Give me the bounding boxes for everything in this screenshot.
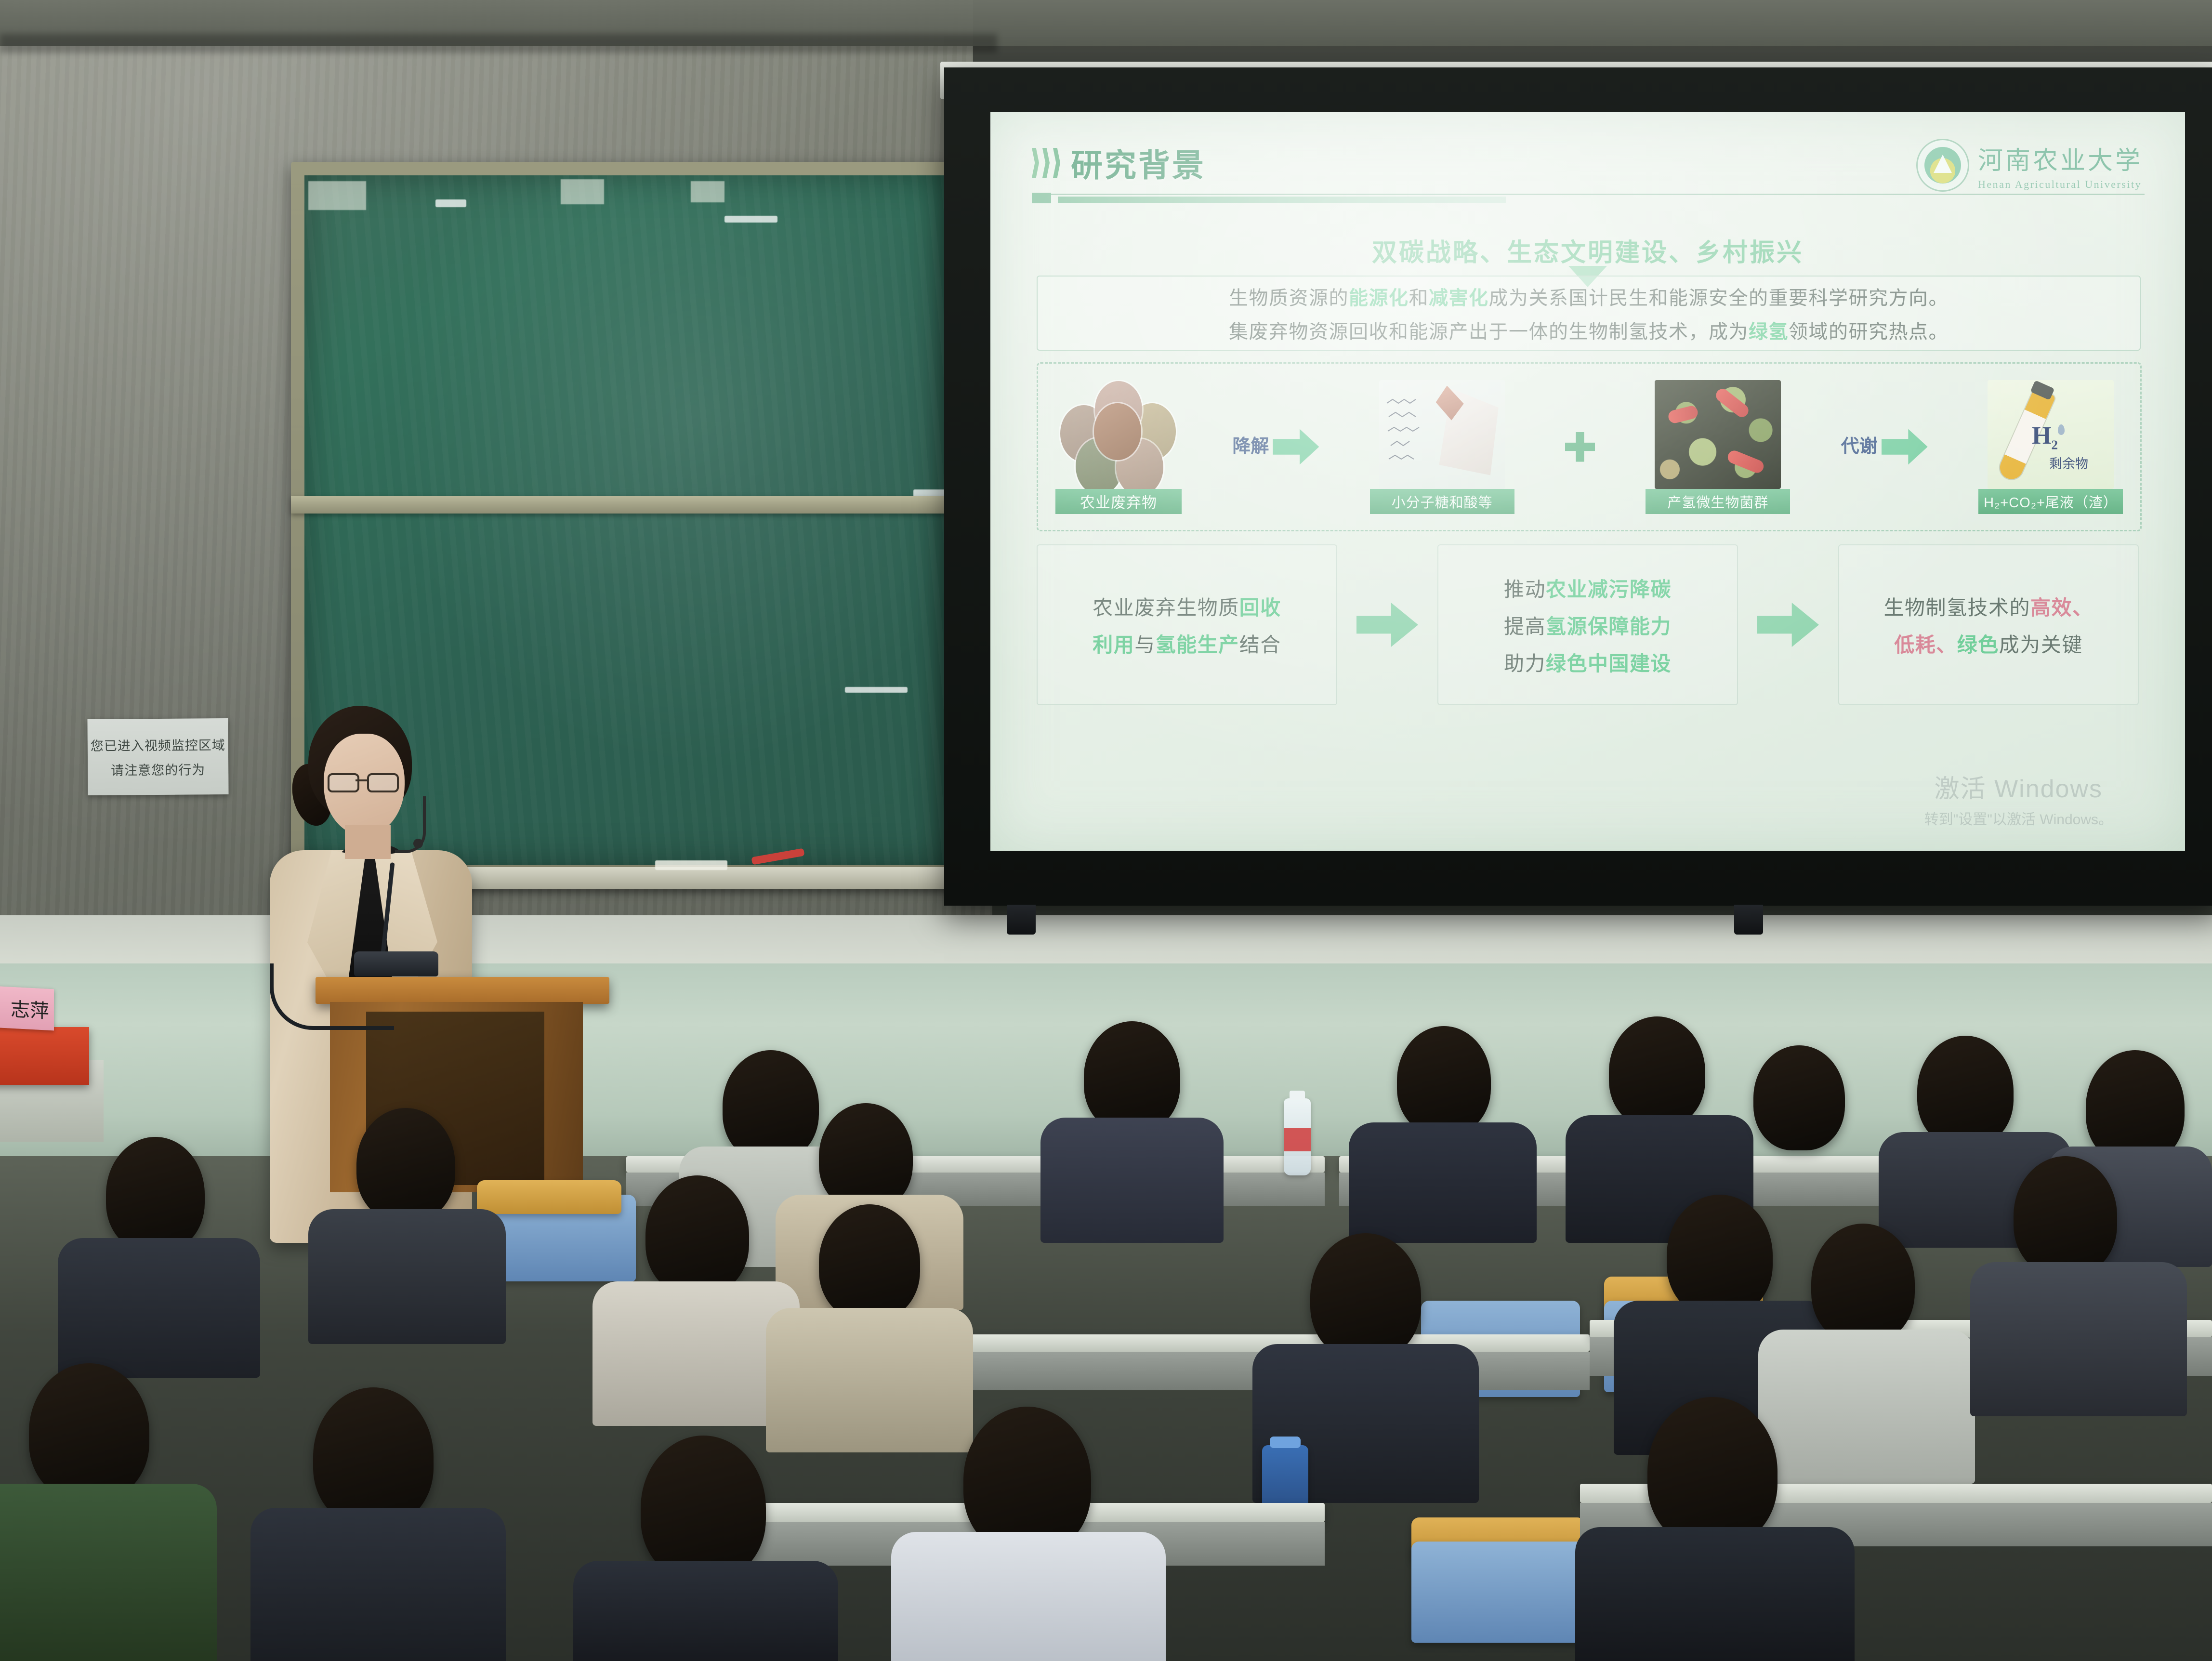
audience-head bbox=[1753, 1045, 1845, 1150]
c3-l1-a: 生物制氢技术的 bbox=[1883, 596, 2030, 619]
residue-label: 剩余物 bbox=[2049, 453, 2088, 472]
watermark-line-2: 转到"设置"以激活 Windows。 bbox=[1924, 807, 2113, 829]
travel-mug bbox=[1262, 1445, 1308, 1513]
molecule-structure-icon bbox=[1384, 396, 1442, 469]
node-caption-feedstock: 农业废弃物 bbox=[1055, 489, 1182, 514]
surveillance-notice-sign: 您已进入视频监控区域 请注意您的行为 bbox=[87, 718, 228, 795]
c2-l1-hl: 农业减污降碳 bbox=[1546, 578, 1672, 601]
conclusion-2-line-2: 提高氢源保障能力 bbox=[1504, 610, 1672, 640]
microbial-consortium-photo bbox=[1655, 380, 1781, 489]
audience-body bbox=[308, 1209, 506, 1344]
presenter-neck bbox=[345, 825, 391, 859]
audience-head bbox=[29, 1363, 149, 1501]
node-caption-monomers: 小分子糖和酸等 bbox=[1370, 489, 1514, 514]
plus-icon bbox=[1565, 432, 1595, 462]
headset-mic-capsule bbox=[413, 839, 423, 848]
node-caption-microbes: 产氢微生物菌群 bbox=[1646, 489, 1790, 514]
audience-body bbox=[1970, 1262, 2187, 1416]
university-logo: 河南农业大学 Henan Agricultural University bbox=[1916, 139, 2143, 192]
arrow-right-icon bbox=[1882, 429, 1928, 465]
c3-l2-hl1: 低耗、 bbox=[1894, 633, 1957, 656]
conclusion-1-line-2: 利用与氢能生产结合 bbox=[1093, 629, 1281, 658]
slide-header: 研究背景 bbox=[1032, 140, 1206, 186]
desk-row-front bbox=[891, 1352, 1590, 1390]
university-name-en: Henan Agricultural University bbox=[1978, 178, 2143, 191]
process-node-feedstock: 农业废弃物 bbox=[1055, 380, 1182, 514]
audience-head bbox=[106, 1137, 205, 1252]
c1-l1-a: 农业废弃生物质 bbox=[1093, 596, 1239, 619]
audience-body bbox=[0, 1484, 217, 1661]
audience-body bbox=[58, 1238, 260, 1378]
university-name-cn: 河南农业大学 bbox=[1978, 140, 2143, 176]
slide-title: 研究背景 bbox=[1071, 140, 1206, 186]
arrow-right-icon bbox=[1273, 429, 1319, 465]
arrow-right-icon bbox=[1757, 603, 1819, 647]
eyeglasses-icon bbox=[328, 773, 400, 790]
chevron-right-icon bbox=[1032, 148, 1060, 178]
para-l1-a: 生物质资源的 bbox=[1229, 288, 1349, 309]
arrow-right-icon bbox=[1356, 603, 1418, 647]
hydrogen-tube-illustration: H2 剩余物 bbox=[1988, 380, 2114, 489]
header-divider-accent bbox=[1032, 193, 1051, 203]
audience-body bbox=[573, 1561, 838, 1661]
para-l2-a: 集废弃物资源回收和能源产出于一体的生物制氢技术，成为 bbox=[1229, 321, 1749, 343]
audience-head bbox=[313, 1387, 434, 1526]
audience-head bbox=[1310, 1233, 1421, 1359]
red-tray bbox=[0, 1027, 89, 1085]
audience-body bbox=[250, 1508, 506, 1661]
header-divider-bar bbox=[1058, 197, 1506, 203]
slide-banner-heading: 双碳战略、生态文明建设、乡村振兴 bbox=[990, 232, 2185, 268]
name-card-text: 志萍 bbox=[11, 994, 49, 1024]
windows-activation-watermark: 激活 Windows 转到"设置"以激活 Windows。 bbox=[1924, 768, 2113, 829]
c3-l1-hl: 高效、 bbox=[2030, 596, 2093, 619]
droplet-icon bbox=[2058, 424, 2065, 435]
audience-head bbox=[356, 1108, 455, 1221]
ceiling-shadow bbox=[0, 34, 997, 53]
notice-line-2: 请注意您的行为 bbox=[111, 759, 205, 778]
name-card: 志萍 bbox=[0, 986, 54, 1031]
h2-subscript: 2 bbox=[2051, 437, 2058, 452]
audience-head bbox=[819, 1204, 920, 1320]
c1-l1-hl: 回收 bbox=[1239, 596, 1281, 619]
presentation-slide: 研究背景 河南农业大学 Henan Agricultural Universit… bbox=[990, 112, 2185, 851]
c2-l2-hl: 氢源保障能力 bbox=[1546, 615, 1672, 638]
conclusion-3-line-1: 生物制氢技术的高效、 bbox=[1883, 592, 2093, 621]
agricultural-waste-photo bbox=[1055, 380, 1182, 489]
process-node-products: H2 剩余物 H₂+CO₂+尾液（渣） bbox=[1978, 380, 2123, 514]
audience-head bbox=[1647, 1397, 1777, 1546]
c1-l2-b: 结合 bbox=[1239, 633, 1281, 656]
audience-head bbox=[1397, 1026, 1491, 1134]
water-bottle bbox=[1284, 1098, 1311, 1175]
lecture-hall-scene: 您已进入视频监控区域 请注意您的行为 志萍 THREELEAVES bbox=[0, 0, 2212, 1661]
para-l1-c: 成为关系国计民生和能源安全的重要科学研究方向。 bbox=[1489, 288, 1949, 309]
para-l2-b: 领域的研究热点。 bbox=[1789, 321, 1949, 343]
audience-head bbox=[1609, 1016, 1705, 1127]
audience-head bbox=[641, 1436, 766, 1580]
para-l1-hl1: 能源化 bbox=[1349, 288, 1409, 309]
audience-head bbox=[1917, 1036, 2014, 1147]
university-crest-icon bbox=[1916, 139, 1969, 192]
audience-body bbox=[1349, 1122, 1537, 1243]
para-l1-hl2: 减害化 bbox=[1429, 288, 1489, 309]
audience-head bbox=[723, 1050, 819, 1161]
audience-body bbox=[766, 1308, 973, 1452]
audience-head bbox=[1667, 1195, 1773, 1316]
process-arrow-degradation: 降解 bbox=[1232, 429, 1319, 465]
conclusion-card-2: 推动农业减污降碳 提高氢源保障能力 助力绿色中国建设 bbox=[1437, 544, 1738, 705]
blackboard-middle-rail bbox=[291, 496, 965, 514]
audience-head bbox=[819, 1103, 913, 1210]
notice-line-1: 您已进入视频监控区域 bbox=[91, 735, 225, 754]
audience-head bbox=[645, 1175, 749, 1295]
chair bbox=[477, 1180, 621, 1214]
intro-paragraph-box: 生物质资源的能源化和减害化成为关系国计民生和能源安全的重要科学研究方向。 集废弃… bbox=[1037, 276, 2141, 351]
arrow-label-degradation-text: 降解 bbox=[1232, 437, 1269, 456]
c1-l2-hl2: 氢能生产 bbox=[1156, 633, 1239, 656]
desk-row bbox=[891, 1334, 1590, 1352]
c1-l2-hl1: 利用 bbox=[1093, 633, 1134, 656]
chair bbox=[1411, 1542, 1585, 1643]
conclusion-row: 农业废弃生物质回收 利用与氢能生产结合 推动农业减污降碳 提高氢源保障能力 助力… bbox=[1037, 545, 2139, 704]
conclusion-1-line-1: 农业废弃生物质回收 bbox=[1093, 592, 1281, 621]
audience-head bbox=[1811, 1224, 1915, 1343]
para-l2-hl: 绿氢 bbox=[1749, 321, 1789, 343]
c1-l2-a: 与 bbox=[1134, 633, 1156, 656]
small-molecule-illustration bbox=[1379, 380, 1505, 489]
conclusion-3-line-2: 低耗、绿色成为关键 bbox=[1894, 629, 2083, 658]
c2-l1-a: 推动 bbox=[1504, 578, 1546, 601]
c3-l2-hl2: 绿色 bbox=[1957, 633, 1999, 656]
c2-l3-a: 助力 bbox=[1504, 652, 1546, 675]
c3-l2-a: 成为关键 bbox=[1999, 633, 2083, 656]
c2-l2-a: 提高 bbox=[1504, 615, 1546, 638]
microphone-cable bbox=[270, 963, 394, 1030]
audience-body bbox=[1575, 1527, 1855, 1661]
conclusion-card-3: 生物制氢技术的高效、 低耗、绿色成为关键 bbox=[1838, 544, 2139, 705]
arrow-label-metabolism: 代谢 bbox=[1841, 437, 1878, 456]
c2-l3-hl: 绿色中国建设 bbox=[1546, 652, 1672, 675]
conclusion-2-line-3: 助力绿色中国建设 bbox=[1504, 647, 1672, 677]
node-caption-products: H₂+CO₂+尾液（渣） bbox=[1978, 489, 2123, 514]
watermark-line-1: 激活 Windows bbox=[1924, 768, 2113, 804]
arrow-label-metabolism-text: 代谢 bbox=[1841, 437, 1878, 456]
h2-symbol: H bbox=[2032, 422, 2051, 449]
audience-body bbox=[891, 1532, 1166, 1661]
screen-bracket-left bbox=[1007, 905, 1036, 935]
audience-body bbox=[1758, 1330, 1975, 1484]
process-flow-diagram: 农业废弃物 降解 bbox=[1037, 362, 2142, 531]
screen-bracket-right bbox=[1734, 905, 1763, 935]
header-divider bbox=[1032, 194, 2145, 195]
paragraph-line-2: 集废弃物资源回收和能源产出于一体的生物制氢技术，成为绿氢领域的研究热点。 bbox=[1229, 316, 1949, 344]
audience-body bbox=[1040, 1118, 1224, 1243]
process-node-microbes: 产氢微生物菌群 bbox=[1646, 380, 1790, 514]
paragraph-line-1: 生物质资源的能源化和减害化成为关系国计民生和能源安全的重要科学研究方向。 bbox=[1229, 282, 1949, 310]
audience-head bbox=[1084, 1021, 1180, 1132]
audience-head bbox=[2014, 1156, 2117, 1276]
hydrogen-label: H2 bbox=[2032, 422, 2058, 452]
conclusion-card-1: 农业废弃生物质回收 利用与氢能生产结合 bbox=[1037, 544, 1337, 705]
para-l1-b: 和 bbox=[1409, 288, 1429, 309]
conclusion-2-line-1: 推动农业减污降碳 bbox=[1504, 573, 1672, 603]
process-node-monomers: 小分子糖和酸等 bbox=[1370, 380, 1514, 514]
process-arrow-metabolism: 代谢 bbox=[1841, 429, 1928, 465]
arrow-label-degradation: 降解 bbox=[1232, 437, 1269, 456]
